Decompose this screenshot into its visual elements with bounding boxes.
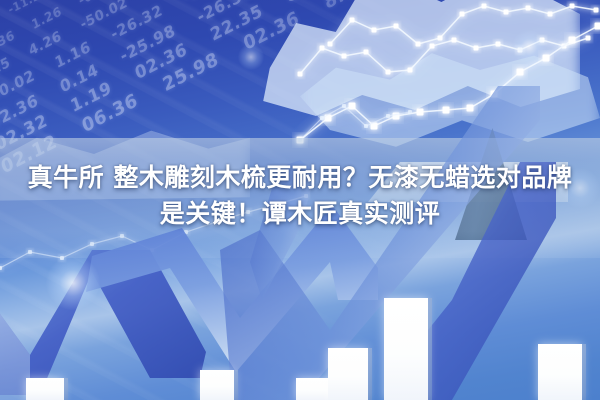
banner-title-line-2: 是关键！谭木匠真实测评	[14, 196, 586, 232]
banner-title: 真牛所 整木雕刻木梳更耐用？无漆无蜡选对品牌 是关键！谭木匠真实测评	[0, 160, 600, 232]
bar-column	[26, 378, 64, 400]
banner-title-line-1: 真牛所 整木雕刻木梳更耐用？无漆无蜡选对品牌	[28, 163, 573, 192]
bar-column	[200, 370, 234, 400]
banner-image: -50.02 -02.36 -11.26 45.02 21.15-02.36 -…	[0, 0, 600, 400]
bar-column	[538, 344, 582, 400]
bar-column	[296, 378, 332, 400]
bar-column	[384, 298, 428, 400]
bar-column	[328, 348, 368, 400]
